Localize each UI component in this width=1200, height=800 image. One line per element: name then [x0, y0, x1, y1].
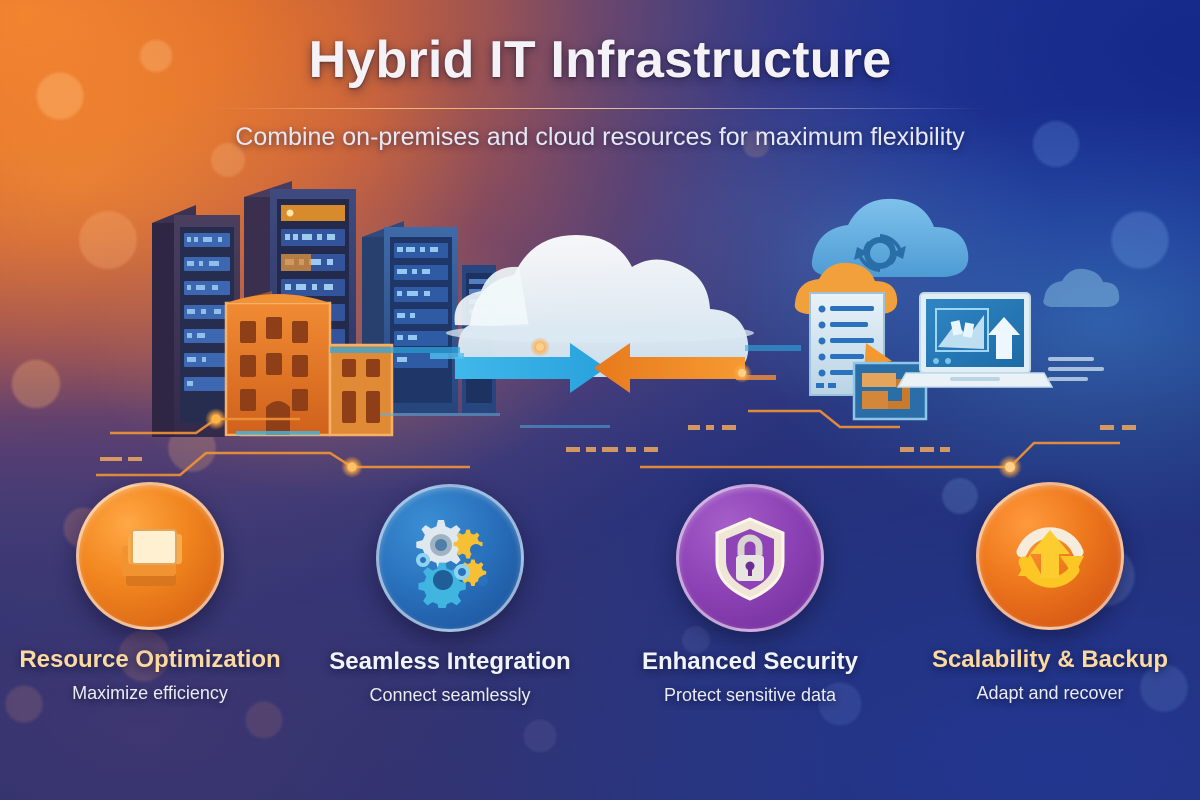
feature-list: Resource Optimization Maximize efficienc…: [0, 482, 1200, 706]
header-divider: [215, 108, 985, 109]
data-beam-right: [745, 345, 801, 351]
circuit-dash-segments-blue: [380, 413, 610, 428]
page-subtitle: Combine on-premises and cloud resources …: [0, 123, 1200, 152]
page-title: Hybrid IT Infrastructure: [0, 30, 1200, 90]
infographic-poster: Hybrid IT Infrastructure Combine on-prem…: [0, 0, 1200, 800]
feature-item-seamless-integration[interactable]: Seamless Integration Connect seamlessly: [300, 484, 600, 706]
feature-subtitle: Maximize efficiency: [72, 683, 228, 704]
feature-subtitle: Adapt and recover: [976, 683, 1123, 704]
layers-stack-icon: [76, 482, 224, 630]
hybrid-infrastructure-illustration: [0, 175, 1200, 485]
feature-subtitle: Connect seamlessly: [369, 685, 530, 706]
feature-title: Enhanced Security: [642, 648, 858, 676]
gears-icon: [376, 484, 524, 632]
cloud-icon: [446, 235, 754, 377]
data-beam-left: [330, 347, 460, 353]
feature-item-enhanced-security[interactable]: Enhanced Security Protect sensitive data: [600, 484, 900, 706]
feature-title: Resource Optimization: [19, 646, 280, 674]
feature-title: Seamless Integration: [329, 648, 570, 676]
shield-lock-icon: [676, 484, 824, 632]
laptop-icon: [898, 293, 1052, 387]
data-migration-icon: [854, 363, 926, 419]
feature-item-resource-optimization[interactable]: Resource Optimization Maximize efficienc…: [0, 482, 300, 706]
text-placeholder-lines: [1048, 357, 1104, 381]
cloud-decoration-icon: [1043, 269, 1119, 307]
refresh-upload-icon: [976, 482, 1124, 630]
feature-title: Scalability & Backup: [932, 646, 1168, 674]
feature-item-scalability-backup[interactable]: Scalability & Backup Adapt and recover: [900, 482, 1200, 706]
feature-subtitle: Protect sensitive data: [664, 685, 836, 706]
poster-header: Hybrid IT Infrastructure Combine on-prem…: [0, 30, 1200, 152]
